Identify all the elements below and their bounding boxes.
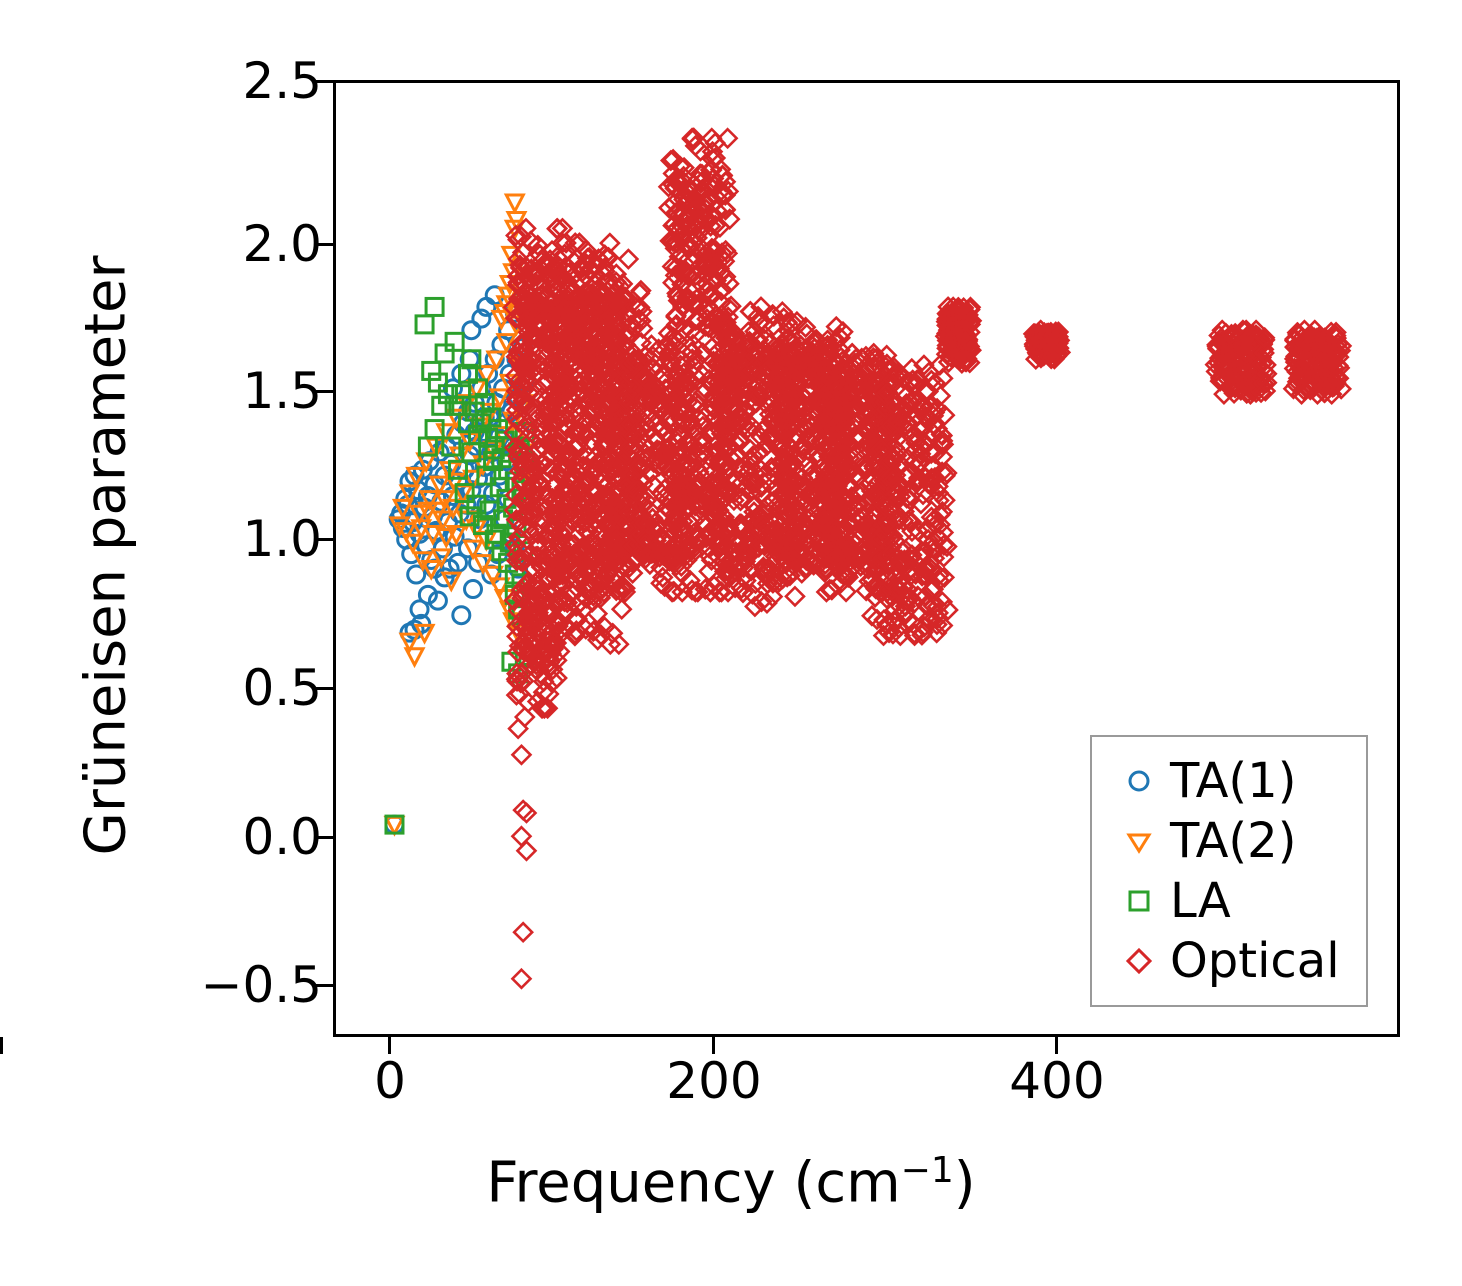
y-ticklabel--0.5: −0.5: [201, 960, 322, 1010]
figure: 2.5 2.0 1.5 1.0 0.5 0.0 −0.5 0 200 400 F…: [0, 0, 1462, 1286]
legend-label-ta2: TA(2): [1170, 817, 1296, 865]
x-axis-title: Frequency (cm−1): [0, 1150, 1462, 1216]
triangle-down-marker-icon: [1108, 811, 1170, 871]
circle-marker-icon: [1108, 751, 1170, 811]
x-ticklabel-0: 0: [374, 1056, 406, 1106]
y-ticklabel-1.0: 1.0: [242, 514, 322, 564]
legend-item-la[interactable]: LA: [1108, 871, 1340, 931]
legend-label-la: LA: [1170, 877, 1231, 925]
y-ticklabel-1.5: 1.5: [242, 366, 322, 416]
y-ticklabel-2.0: 2.0: [242, 219, 322, 269]
legend-label-optical: Optical: [1170, 937, 1340, 985]
x-axis-title-tail: ): [954, 1151, 976, 1216]
x-tick-200: [0, 1037, 3, 1054]
y-ticklabel-0.0: 0.0: [242, 812, 322, 862]
x-axis-title-exponent: −1: [901, 1150, 954, 1191]
legend-item-optical[interactable]: Optical: [1108, 931, 1340, 991]
legend[interactable]: TA(1) TA(2) LA Optical: [1090, 735, 1368, 1007]
legend-item-ta2[interactable]: TA(2): [1108, 811, 1340, 871]
x-ticklabel-400: 400: [1009, 1056, 1104, 1106]
y-ticklabel-0.5: 0.5: [242, 663, 322, 713]
square-marker-icon: [1108, 871, 1170, 931]
x-axis-title-base: Frequency (cm: [486, 1151, 900, 1216]
legend-label-ta1: TA(1): [1170, 757, 1296, 805]
x-ticklabel-200: 200: [666, 1056, 761, 1106]
y-ticklabel-2.5: 2.5: [242, 56, 322, 106]
legend-item-ta1[interactable]: TA(1): [1108, 751, 1340, 811]
diamond-marker-icon: [1108, 931, 1170, 991]
y-axis-title: Grüneisen parameter: [74, 76, 139, 1036]
